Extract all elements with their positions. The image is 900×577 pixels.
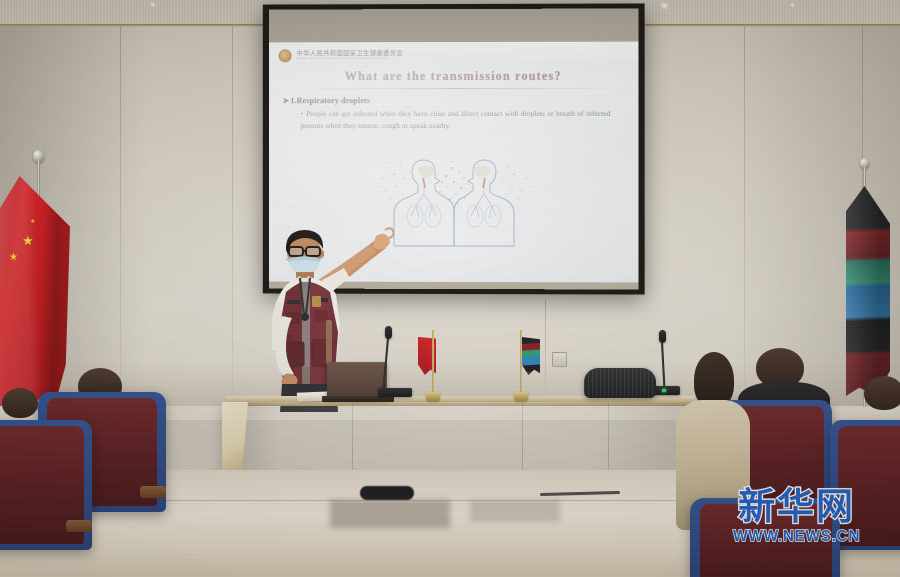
microphone-base — [378, 388, 412, 397]
flag-star-icon: ★ — [30, 219, 35, 225]
slide-bullet-level2-text: People can get infected when they have c… — [301, 109, 611, 130]
bullet-dot-icon: • — [301, 109, 304, 118]
bullet-arrow-icon: ➤ — [283, 96, 290, 105]
office-chair-mesh-texture — [584, 368, 656, 398]
floor-reflection — [330, 500, 450, 528]
audience-head — [864, 376, 900, 410]
wall-panel-seam — [232, 26, 233, 396]
ceiling-light-icon — [150, 2, 156, 7]
watermark: 新华网 WWW.NEWS.CN — [733, 487, 860, 545]
desk-flagpole — [432, 330, 434, 396]
slide-bullet-level1: ➤1.Respiratory droplets — [283, 95, 370, 105]
watermark-logo-cn: 新华网 — [733, 487, 860, 527]
wall-socket — [552, 352, 567, 367]
ceiling-light-icon — [660, 2, 669, 9]
slide-header-bar: 中华人民共和国国家卫生健康委员会 National Health Commiss… — [269, 42, 639, 69]
slide-bullet-level1-text: 1.Respiratory droplets — [290, 96, 369, 105]
slide-bullet-level2: •People can get infected when they have … — [301, 108, 611, 131]
slide-title: What are the transmission routes? — [269, 69, 639, 85]
desk-flag-base — [426, 392, 440, 401]
watermark-url: WWW.NEWS.CN — [733, 528, 860, 545]
microphone-head-icon — [385, 326, 392, 339]
desk-flagpole — [520, 330, 522, 396]
equipment-case — [360, 486, 414, 500]
slide-org-name-en: National Health Commission of the People… — [297, 57, 404, 61]
national-emblem-icon — [279, 49, 292, 62]
flag-star-icon: ★ — [9, 253, 18, 263]
microphone-status-led — [662, 389, 666, 392]
slide-title-divider — [273, 88, 635, 89]
ceiling-light-icon — [790, 3, 795, 7]
auditorium-seat-arm — [66, 520, 92, 532]
audience-head — [2, 388, 38, 418]
photo-scene: 中华人民共和国国家卫生健康委员会 National Health Commiss… — [0, 0, 900, 577]
south-sudan-flag-shading — [846, 186, 890, 396]
desk-flag-base — [514, 392, 528, 401]
flag-star-icon: ★ — [22, 234, 34, 247]
auditorium-seat-arm — [140, 486, 166, 498]
floor-reflection — [470, 500, 560, 522]
